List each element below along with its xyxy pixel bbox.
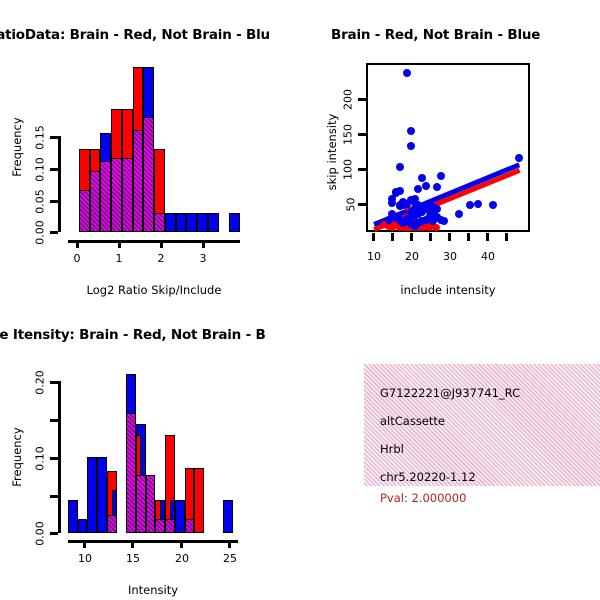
hist-bar	[229, 213, 240, 232]
panel-scatter-include-vs-skip: Brain - Red, Not Brain - Blue 200 150 10…	[300, 0, 600, 300]
info-event-type: altCassette	[380, 414, 445, 428]
hist-ratio-yticklabel-0: 0.00	[34, 213, 47, 253]
hist-ratio-xticklabel-2: 2	[146, 252, 176, 265]
hist-intensity-xtick-10	[83, 540, 86, 548]
scatter-xticklabel-30: 30	[435, 250, 465, 263]
scatter-point	[407, 208, 415, 216]
hist-ratio-xticklabel-3: 3	[188, 252, 218, 265]
hist-intensity-xtick-20	[180, 540, 183, 548]
scatter-point	[407, 127, 415, 135]
scatter-point	[515, 154, 523, 162]
hist-bar	[176, 213, 187, 232]
info-locus: chr5.20220-1.12	[380, 470, 476, 484]
hist-bar	[87, 457, 97, 533]
hist-intensity-ytick-010	[50, 457, 58, 460]
hist-ratio-ytick-1	[50, 200, 58, 203]
hist-intensity-ylabel: Frequency	[10, 422, 24, 492]
hist-bar	[143, 117, 154, 232]
hist-bar	[146, 475, 156, 533]
scatter-point	[440, 217, 448, 225]
scatter-ylabel: skip intensity	[325, 112, 339, 192]
hist-ratio-xticklabel-0: 0	[62, 252, 92, 265]
scatter-point	[396, 163, 404, 171]
hist-intensity-xlabel: Intensity	[113, 583, 193, 597]
hist-ratio-ytick-0	[50, 231, 58, 234]
scatter-ytick-50	[358, 203, 366, 206]
scatter-plot-frame	[366, 63, 530, 232]
hist-intensity-yaxis	[58, 381, 61, 533]
scatter-yticklabel-150: 150	[342, 115, 355, 155]
hist-bar	[194, 468, 204, 533]
hist-bar	[97, 457, 107, 533]
hist-bar	[126, 413, 136, 533]
scatter-xtick-c	[410, 233, 413, 241]
hist-bar	[111, 158, 122, 232]
hist-ratio-bars	[68, 62, 240, 232]
scatter-point	[411, 222, 419, 230]
scatter-point	[414, 185, 422, 193]
scatter-yticklabel-200: 200	[342, 80, 355, 120]
hist-bar	[154, 213, 165, 232]
hist-bar	[90, 171, 101, 232]
hist-ratio-xaxis	[68, 240, 240, 243]
scatter-xticklabel-20: 20	[397, 250, 427, 263]
scatter-xtick-a	[372, 233, 375, 241]
scatter-point	[418, 174, 426, 182]
scatter-xtick-g	[486, 233, 489, 241]
hist-intensity-yticklabel-000: 0.00	[34, 514, 47, 554]
hist-intensity-xtick-25	[228, 540, 231, 548]
scatter-points-layer	[368, 65, 528, 230]
panel-histogram-gene-intensity: ne Itensity: Brain - Red, Not Brain - B …	[0, 300, 300, 600]
scatter-xtick-f	[467, 233, 470, 241]
hist-bar	[223, 500, 233, 533]
hist-intensity-xticklabel-25: 25	[215, 552, 245, 565]
hist-bar	[100, 161, 111, 232]
hist-bar	[107, 515, 117, 533]
hist-ratio-xticklabel-1: 1	[104, 252, 134, 265]
scatter-xticklabel-10: 10	[359, 250, 389, 263]
hist-bar	[165, 213, 176, 232]
scatter-xticklabel-40: 40	[473, 250, 503, 263]
panel-info: G7122221@J937741_RC altCassette Hrbl chr…	[300, 300, 600, 600]
scatter-title: Brain - Red, Not Brain - Blue	[331, 27, 540, 43]
hist-ratio-xtick-0	[76, 240, 79, 248]
info-probe-id: G7122221@J937741_RC	[380, 386, 520, 400]
hist-intensity-title: ne Itensity: Brain - Red, Not Brain - B	[0, 327, 266, 343]
hist-intensity-ytick-015	[50, 419, 58, 422]
hist-bar	[122, 158, 133, 232]
hist-intensity-xticklabel-10: 10	[70, 552, 100, 565]
hist-ratio-ytick-3	[50, 136, 58, 139]
hist-intensity-bars	[68, 370, 238, 533]
scatter-point	[422, 182, 430, 190]
scatter-point	[437, 172, 445, 180]
hist-bar	[68, 500, 78, 533]
hist-intensity-ytick-020	[50, 381, 58, 384]
scatter-point	[385, 216, 393, 224]
hist-intensity-xticklabel-20: 20	[167, 552, 197, 565]
hist-intensity-yticklabel-010: 0.10	[34, 439, 47, 479]
hist-bar	[185, 519, 195, 533]
scatter-ytick-150	[358, 133, 366, 136]
scatter-xtick-e	[448, 233, 451, 241]
scatter-xtick-b	[391, 233, 394, 241]
hist-intensity-ytick-005	[50, 495, 58, 498]
hist-bar	[136, 475, 146, 533]
info-pval: Pval: 2.000000	[380, 491, 466, 505]
hist-bar	[155, 519, 165, 533]
hist-bar	[79, 190, 90, 232]
hist-ratio-xlabel: Log2 Ratio Skip/Include	[74, 283, 234, 297]
scatter-point	[392, 189, 400, 197]
scatter-point	[407, 142, 415, 150]
hist-intensity-xticklabel-15: 15	[118, 552, 148, 565]
hist-bar	[197, 213, 208, 232]
hist-bar	[175, 500, 185, 533]
scatter-point	[403, 69, 411, 77]
scatter-point	[455, 210, 463, 218]
scatter-point	[474, 200, 482, 208]
hist-intensity-plot-area	[68, 370, 238, 533]
scatter-xtick-h	[505, 233, 508, 241]
hist-bar	[133, 130, 144, 232]
hist-ratio-xtick-1	[118, 240, 121, 248]
hist-ratio-ylabel: Frequency	[10, 112, 24, 182]
scatter-xtick-d	[429, 233, 432, 241]
scatter-yticklabel-100: 100	[342, 150, 355, 190]
hist-bar	[186, 213, 197, 232]
panel-histogram-log2-ratio: RatioData: Brain - Red, Not Brain - Blu …	[0, 0, 300, 300]
scatter-point	[489, 201, 497, 209]
scatter-ytick-200	[358, 98, 366, 101]
hist-intensity-ytick-000	[50, 532, 58, 535]
hist-ratio-yaxis	[58, 136, 61, 232]
scatter-ytick-100	[358, 168, 366, 171]
scatter-xlabel: include intensity	[388, 283, 508, 297]
hist-intensity-yticklabel-020: 0.20	[34, 363, 47, 403]
scatter-yticklabel-50: 50	[345, 185, 358, 225]
hist-intensity-xtick-15	[131, 540, 134, 548]
hist-ratio-ytick-2	[50, 168, 58, 171]
hist-ratio-xtick-3	[202, 240, 205, 248]
info-gene-symbol: Hrbl	[380, 442, 404, 456]
scatter-point	[396, 202, 404, 210]
hist-ratio-title: RatioData: Brain - Red, Not Brain - Blu	[0, 27, 270, 43]
hist-bar	[165, 519, 175, 533]
gene-info-box: G7122221@J937741_RC altCassette Hrbl chr…	[364, 364, 600, 486]
hist-bar	[78, 519, 88, 533]
hist-ratio-plot-area	[68, 62, 240, 232]
hist-bar	[208, 213, 219, 232]
hist-ratio-xtick-2	[160, 240, 163, 248]
scatter-point	[433, 183, 441, 191]
hist-intensity-xaxis	[68, 540, 238, 543]
